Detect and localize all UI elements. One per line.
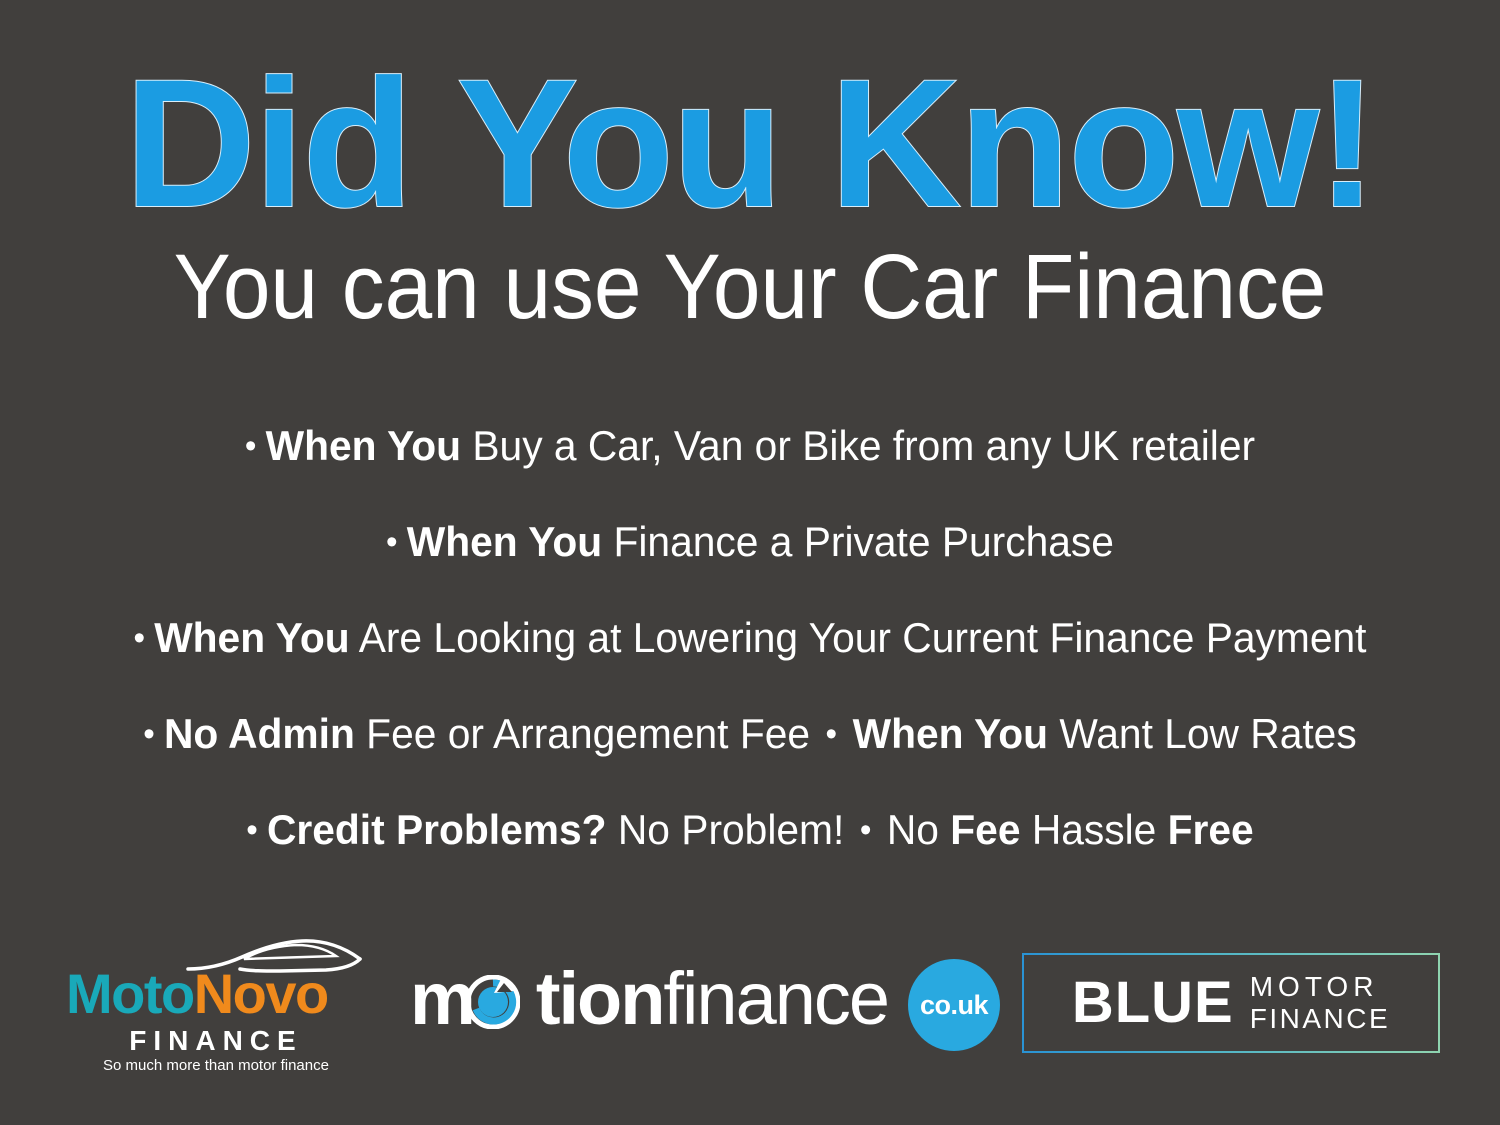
motionfinance-domain-badge: co.uk: [908, 959, 1000, 1051]
benefit-emphasis: When You: [266, 422, 461, 469]
bullet-dot-icon: •: [143, 715, 164, 753]
page-title: Did You Know!: [0, 52, 1500, 234]
benefit-item: • When You Finance a Private Purchase: [23, 494, 1478, 590]
motionfinance-word-m: m: [410, 957, 474, 1040]
circular-arrow-icon: [466, 975, 520, 1029]
motonovo-tagline: So much more than motor finance: [66, 1057, 366, 1074]
logo-motionfinance: mtionfinance co.uk: [410, 955, 1000, 1045]
motonovo-word-novo: Novo: [194, 962, 328, 1025]
benefit-item: • No Admin Fee or Arrangement Fee•When Y…: [23, 686, 1478, 782]
motonovo-wordmark: MotoNovo: [66, 965, 366, 1023]
benefit-text: No Problem!: [607, 806, 845, 853]
benefit-text: No: [887, 806, 950, 853]
motonovo-word-moto: Moto: [66, 962, 194, 1025]
benefit-text: Want Low Rates: [1048, 710, 1357, 757]
promo-poster: Did You Know! You can use Your Car Finan…: [0, 0, 1500, 1125]
benefit-emphasis: Free: [1168, 806, 1254, 853]
benefit-text: Are Looking at Lowering Your Current Fin…: [350, 614, 1367, 661]
bullet-dot-icon: •: [245, 427, 266, 465]
blue-word-finance: FINANCE: [1250, 1003, 1390, 1035]
benefit-text: Hassle: [1020, 806, 1167, 853]
benefit-emphasis: When You: [154, 614, 349, 661]
bullet-dot-icon: •: [246, 811, 267, 849]
benefit-item: • Credit Problems? No Problem!•No Fee Ha…: [23, 782, 1478, 878]
motionfinance-word-finance: finance: [663, 957, 888, 1040]
motionfinance-domain-text: co.uk: [908, 959, 1000, 1051]
blue-word-motor: MOTOR: [1250, 971, 1390, 1003]
bullet-dot-icon: •: [860, 811, 872, 849]
benefit-emphasis: Credit Problems?: [267, 806, 607, 853]
benefit-emphasis: When You: [853, 710, 1048, 757]
benefit-emphasis: When You: [407, 518, 602, 565]
benefit-text: Buy a Car, Van or Bike from any UK retai…: [461, 422, 1255, 469]
benefit-emphasis: No Admin: [164, 710, 355, 757]
bullet-dot-icon: •: [134, 619, 155, 657]
benefits-list: • When You Buy a Car, Van or Bike from a…: [0, 398, 1500, 878]
partner-logo-strip: MotoNovo FINANCE So much more than motor…: [0, 915, 1500, 1085]
blue-wordmark: BLUE: [1072, 974, 1234, 1032]
benefit-text: Finance a Private Purchase: [602, 518, 1114, 565]
benefit-text: Fee or Arrangement Fee: [355, 710, 810, 757]
bullet-dot-icon: •: [826, 715, 838, 753]
page-subtitle: You can use Your Car Finance: [53, 241, 1448, 333]
bullet-dot-icon: •: [386, 523, 407, 561]
blue-subwordmark: MOTOR FINANCE: [1250, 971, 1390, 1035]
benefit-emphasis: Fee: [950, 806, 1020, 853]
logo-blue-motor-finance: BLUE MOTOR FINANCE: [1022, 953, 1440, 1053]
benefit-item: • When You Are Looking at Lowering Your …: [23, 590, 1478, 686]
motionfinance-word-tion: tion: [536, 957, 664, 1040]
motonovo-subtitle: FINANCE: [66, 1025, 366, 1057]
benefit-item: • When You Buy a Car, Van or Bike from a…: [23, 398, 1478, 494]
logo-motonovo-finance: MotoNovo FINANCE So much more than motor…: [66, 933, 366, 1075]
